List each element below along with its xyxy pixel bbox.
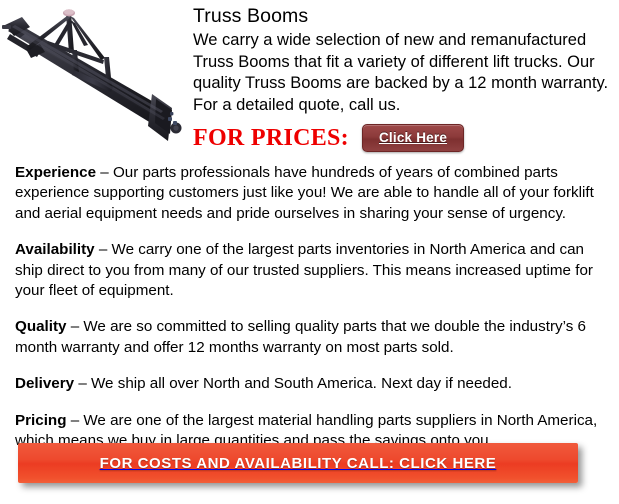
feature-label: Quality — [15, 318, 66, 335]
feature-dash: – — [66, 318, 83, 335]
feature-label: Delivery — [15, 375, 74, 392]
cta-call-button[interactable]: FOR COSTS AND AVAILABILITY CALL: CLICK H… — [18, 443, 578, 483]
feature-dash: – — [74, 375, 91, 392]
feature-quality: Quality – We are so committed to selling… — [15, 317, 605, 358]
page-title: Truss Booms — [193, 4, 613, 28]
feature-label: Pricing — [15, 412, 66, 429]
product-header-section: Truss Booms We carry a wide selection of… — [0, 0, 619, 160]
feature-delivery: Delivery – We ship all over North and So… — [15, 374, 605, 394]
product-image — [0, 0, 190, 155]
feature-experience: Experience – Our parts professionals hav… — [15, 163, 605, 224]
feature-text: We are so committed to selling quality p… — [15, 318, 586, 355]
cta-wrapper: FOR COSTS AND AVAILABILITY CALL: CLICK H… — [18, 443, 578, 483]
features-list: Experience – Our parts professionals hav… — [15, 163, 605, 451]
cta-label: FOR COSTS AND AVAILABILITY CALL: CLICK H… — [100, 455, 497, 472]
click-here-button[interactable]: Click Here — [362, 124, 464, 152]
product-copy: Truss Booms We carry a wide selection of… — [193, 4, 613, 116]
product-description: We carry a wide selection of new and rem… — [193, 30, 613, 116]
feature-label: Experience — [15, 164, 96, 181]
feature-availability: Availability – We carry one of the large… — [15, 240, 605, 301]
truss-boom-illustration — [0, 0, 190, 155]
for-prices-label: FOR PRICES: — [193, 125, 349, 151]
for-prices-row: FOR PRICES: Click Here — [193, 124, 464, 152]
feature-label: Availability — [15, 241, 95, 258]
feature-text: We ship all over North and South America… — [91, 375, 512, 392]
feature-dash: – — [66, 412, 83, 429]
feature-dash: – — [95, 241, 112, 258]
feature-dash: – — [96, 164, 113, 181]
